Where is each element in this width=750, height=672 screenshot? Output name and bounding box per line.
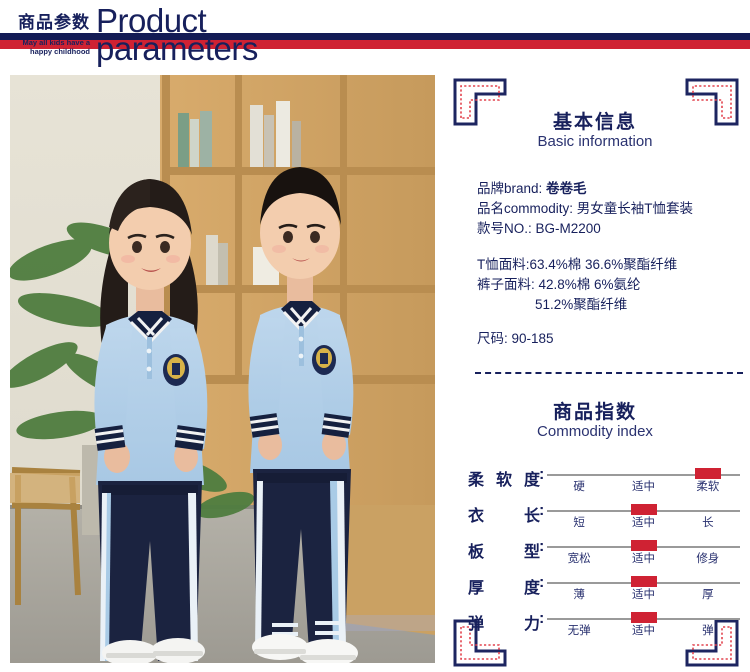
index-label-char: 衣 — [468, 502, 484, 526]
header-tagline: May all kids have a happy childhood — [12, 39, 90, 56]
index-option[interactable]: 长 — [676, 514, 740, 530]
index-option[interactable]: 适中 — [611, 550, 675, 566]
style-no-row: 款号NO.: BG-M2200 — [477, 219, 747, 239]
index-options: 薄适中厚 — [547, 586, 740, 602]
product-photo — [10, 75, 435, 663]
index-label-colon: : — [539, 610, 544, 628]
basic-info-title-cn: 基本信息 — [440, 107, 750, 134]
index-options: 无弹适中弹 — [547, 622, 740, 638]
index-option[interactable]: 厚 — [676, 586, 740, 602]
commodity-index-title-en: Commodity index — [440, 423, 750, 440]
index-options: 宽松适中修身 — [547, 550, 740, 566]
index-row-柔软度: 柔软度:硬适中柔软 — [440, 461, 750, 497]
index-row-label: 厚度 — [468, 574, 540, 598]
index-option[interactable]: 适中 — [611, 514, 675, 530]
index-option[interactable]: 短 — [547, 514, 611, 530]
brand-label: 品牌brand: — [477, 181, 542, 196]
index-options: 短适中长 — [547, 514, 740, 530]
basic-info-list: 品牌brand: 卷卷毛 品名commodity: 男女童长袖T恤套装 款号NO… — [477, 179, 747, 349]
index-row-板型: 板型:宽松适中修身 — [440, 533, 750, 569]
index-label-char: 型 — [524, 538, 540, 562]
index-label-colon: : — [539, 538, 544, 556]
index-label-char: 长 — [524, 502, 540, 526]
index-row-label: 弹力 — [468, 610, 540, 634]
index-row-label: 衣长 — [468, 502, 540, 526]
style-no-label: 款号NO.: — [477, 221, 532, 236]
index-label-char: 度 — [524, 574, 540, 598]
commodity-value: 男女童长袖T恤套装 — [577, 201, 693, 216]
product-photo-illustration — [10, 75, 435, 663]
index-label-char: 度 — [524, 466, 540, 490]
index-row-label: 柔软度 — [468, 466, 540, 490]
info-panel: 基本信息 Basic information 品牌brand: 卷卷毛 品名co… — [440, 75, 750, 672]
index-row-弹力: 弹力:无弹适中弹 — [440, 605, 750, 641]
fabric-pants-row-2: 51.2%聚酯纤维 — [477, 295, 747, 315]
basic-info-title-en: Basic information — [440, 133, 750, 150]
index-option[interactable]: 柔软 — [676, 478, 740, 494]
brand-row: 品牌brand: 卷卷毛 — [477, 179, 747, 199]
brand-value: 卷卷毛 — [546, 181, 587, 196]
index-row-label: 板型 — [468, 538, 540, 562]
index-label-char: 柔 — [468, 466, 484, 490]
index-option[interactable]: 修身 — [676, 550, 740, 566]
index-label-char: 板 — [468, 538, 484, 562]
chest-crest-badge-girl — [163, 354, 189, 386]
commodity-index-title-cn: 商品指数 — [440, 397, 750, 424]
index-option[interactable]: 适中 — [611, 586, 675, 602]
index-label-colon: : — [539, 574, 544, 592]
chest-crest-badge-boy — [312, 345, 336, 375]
index-option[interactable]: 薄 — [547, 586, 611, 602]
index-label-char: 力 — [524, 610, 540, 634]
index-option[interactable]: 适中 — [611, 622, 675, 638]
index-options: 硬适中柔软 — [547, 478, 740, 494]
size-value: 90-185 — [512, 331, 554, 346]
index-option[interactable]: 硬 — [547, 478, 611, 494]
index-option[interactable]: 适中 — [611, 478, 675, 494]
index-row-厚度: 厚度:薄适中厚 — [440, 569, 750, 605]
fabric-tshirt-row: T恤面料:63.4%棉 36.6%聚酯纤维 — [477, 255, 747, 275]
index-label-char: 弹 — [468, 610, 484, 634]
commodity-label: 品名commodity: — [477, 201, 573, 216]
index-label-char: 软 — [496, 466, 512, 490]
index-option[interactable]: 宽松 — [547, 550, 611, 566]
size-row: 尺码: 90-185 — [477, 329, 747, 349]
header-title-cn: 商品参数 — [18, 8, 90, 33]
index-option[interactable]: 无弹 — [547, 622, 611, 638]
index-label-colon: : — [539, 502, 544, 520]
fabric-pants-row-1: 裤子面料: 42.8%棉 6%氨纶 — [477, 275, 747, 295]
product-parameters-page: 商品参数 Product parameters May all kids hav… — [0, 0, 750, 672]
index-option[interactable]: 弹 — [676, 622, 740, 638]
commodity-index-list: 柔软度:硬适中柔软衣长:短适中长板型:宽松适中修身厚度:薄适中厚弹力:无弹适中弹 — [440, 461, 750, 641]
index-label-char: 厚 — [468, 574, 484, 598]
style-no-value: BG-M2200 — [536, 221, 601, 236]
size-label: 尺码: — [477, 331, 508, 346]
section-divider — [475, 372, 743, 374]
header-title-en-line2: parameters — [96, 30, 258, 68]
index-label-colon: : — [539, 466, 544, 484]
index-row-衣长: 衣长:短适中长 — [440, 497, 750, 533]
commodity-row: 品名commodity: 男女童长袖T恤套装 — [477, 199, 747, 219]
